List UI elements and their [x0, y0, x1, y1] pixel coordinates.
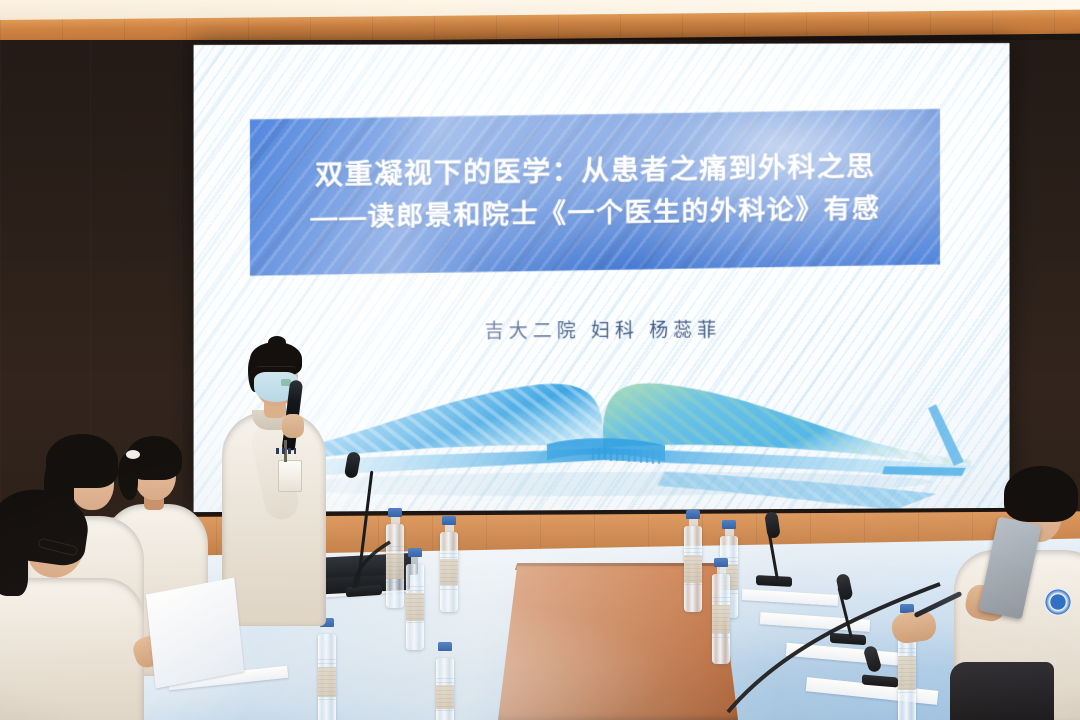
- presenter-hair-bun: [268, 336, 286, 349]
- water-bottle: [440, 516, 458, 612]
- audience-hair-side: [0, 520, 28, 596]
- presenter-id-badge: [278, 460, 302, 492]
- presenter-hand: [282, 414, 304, 438]
- conference-room-photo: 双重凝视下的医学：从患者之痛到外科之思 ——读郎景和院士《一个医生的外科论》有感…: [0, 0, 1080, 720]
- presenter-pocket-pens: [276, 448, 296, 454]
- water-bottle: [406, 548, 424, 650]
- microphone-cable: [690, 580, 950, 720]
- audience-member-front-left: [0, 486, 146, 720]
- audience-right-dark-sleeve: [950, 662, 1054, 720]
- slide-title-box: 双重凝视下的医学：从患者之痛到外科之思 ——读郎景和院士《一个医生的外科论》有感: [250, 109, 940, 276]
- audience-lab-coat: [0, 578, 144, 720]
- water-bottle: [436, 642, 454, 720]
- audience-hair: [1004, 466, 1078, 522]
- audience-right-badge-logo: [1044, 588, 1072, 616]
- handheld-document: [146, 577, 244, 688]
- water-bottle: [318, 618, 336, 720]
- slide-title-line-2: ——读郎景和院士《一个医生的外科论》有感: [310, 188, 880, 238]
